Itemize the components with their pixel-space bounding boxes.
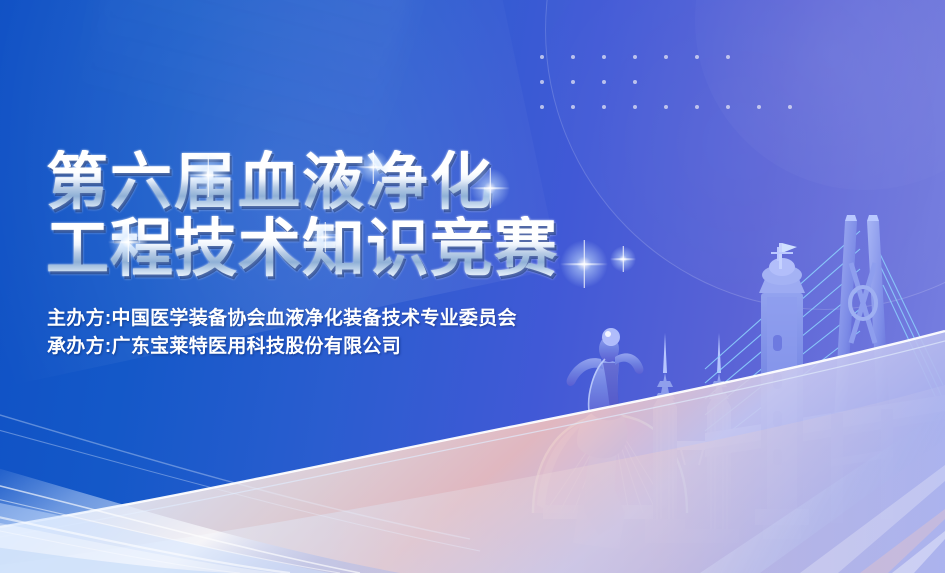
grid-dot: [602, 55, 606, 59]
banner-title: 第六届血液净化 工程技术知识竞赛: [46, 150, 686, 282]
grid-dot: [540, 80, 544, 84]
title-line-2: 工程技术知识竞赛: [46, 216, 686, 282]
grid-dot: [633, 80, 637, 84]
grid-dot: [571, 105, 575, 109]
dot-grid-decoration: [540, 55, 819, 130]
grid-dot: [757, 105, 761, 109]
banner-subtitle: 主办方:中国医学装备协会血液净化装备技术专业委员会 承办方:广东宝莱特医用科技股…: [47, 305, 517, 361]
circle-glow-decoration: [695, 0, 945, 190]
cable-stayed-bridge: [705, 215, 945, 523]
title-line-1: 第六届血液净化: [46, 150, 686, 216]
grid-dot: [664, 55, 668, 59]
event-banner: 第六届血液净化 工程技术知识竞赛 主办方:中国医学装备协会血液净化装备技术专业委…: [0, 0, 945, 573]
grid-dot: [571, 55, 575, 59]
grid-dot: [726, 55, 730, 59]
grid-dot: [695, 55, 699, 59]
twin-towers: [645, 333, 739, 543]
grid-dot: [602, 80, 606, 84]
co-organizer-line: 承办方:广东宝莱特医用科技股份有限公司: [47, 333, 517, 361]
dot-grid-row: [540, 105, 819, 130]
dot-grid-row: [540, 55, 819, 80]
grid-dot: [633, 105, 637, 109]
organizer-line: 主办方:中国医学装备协会血液净化装备技术专业委员会: [47, 305, 517, 333]
grid-dot: [788, 105, 792, 109]
grid-dot: [540, 55, 544, 59]
opera-house-dome: [533, 415, 687, 519]
grid-dot: [633, 55, 637, 59]
dot-grid-row: [540, 80, 819, 105]
grid-dot: [602, 105, 606, 109]
grid-dot: [571, 80, 575, 84]
grid-dot: [726, 105, 730, 109]
grid-dot: [695, 105, 699, 109]
bridge-lighthouse-tower: [755, 243, 809, 539]
fisher-girl-statue: [567, 328, 644, 549]
grid-dot: [664, 105, 668, 109]
grid-dot: [540, 105, 544, 109]
